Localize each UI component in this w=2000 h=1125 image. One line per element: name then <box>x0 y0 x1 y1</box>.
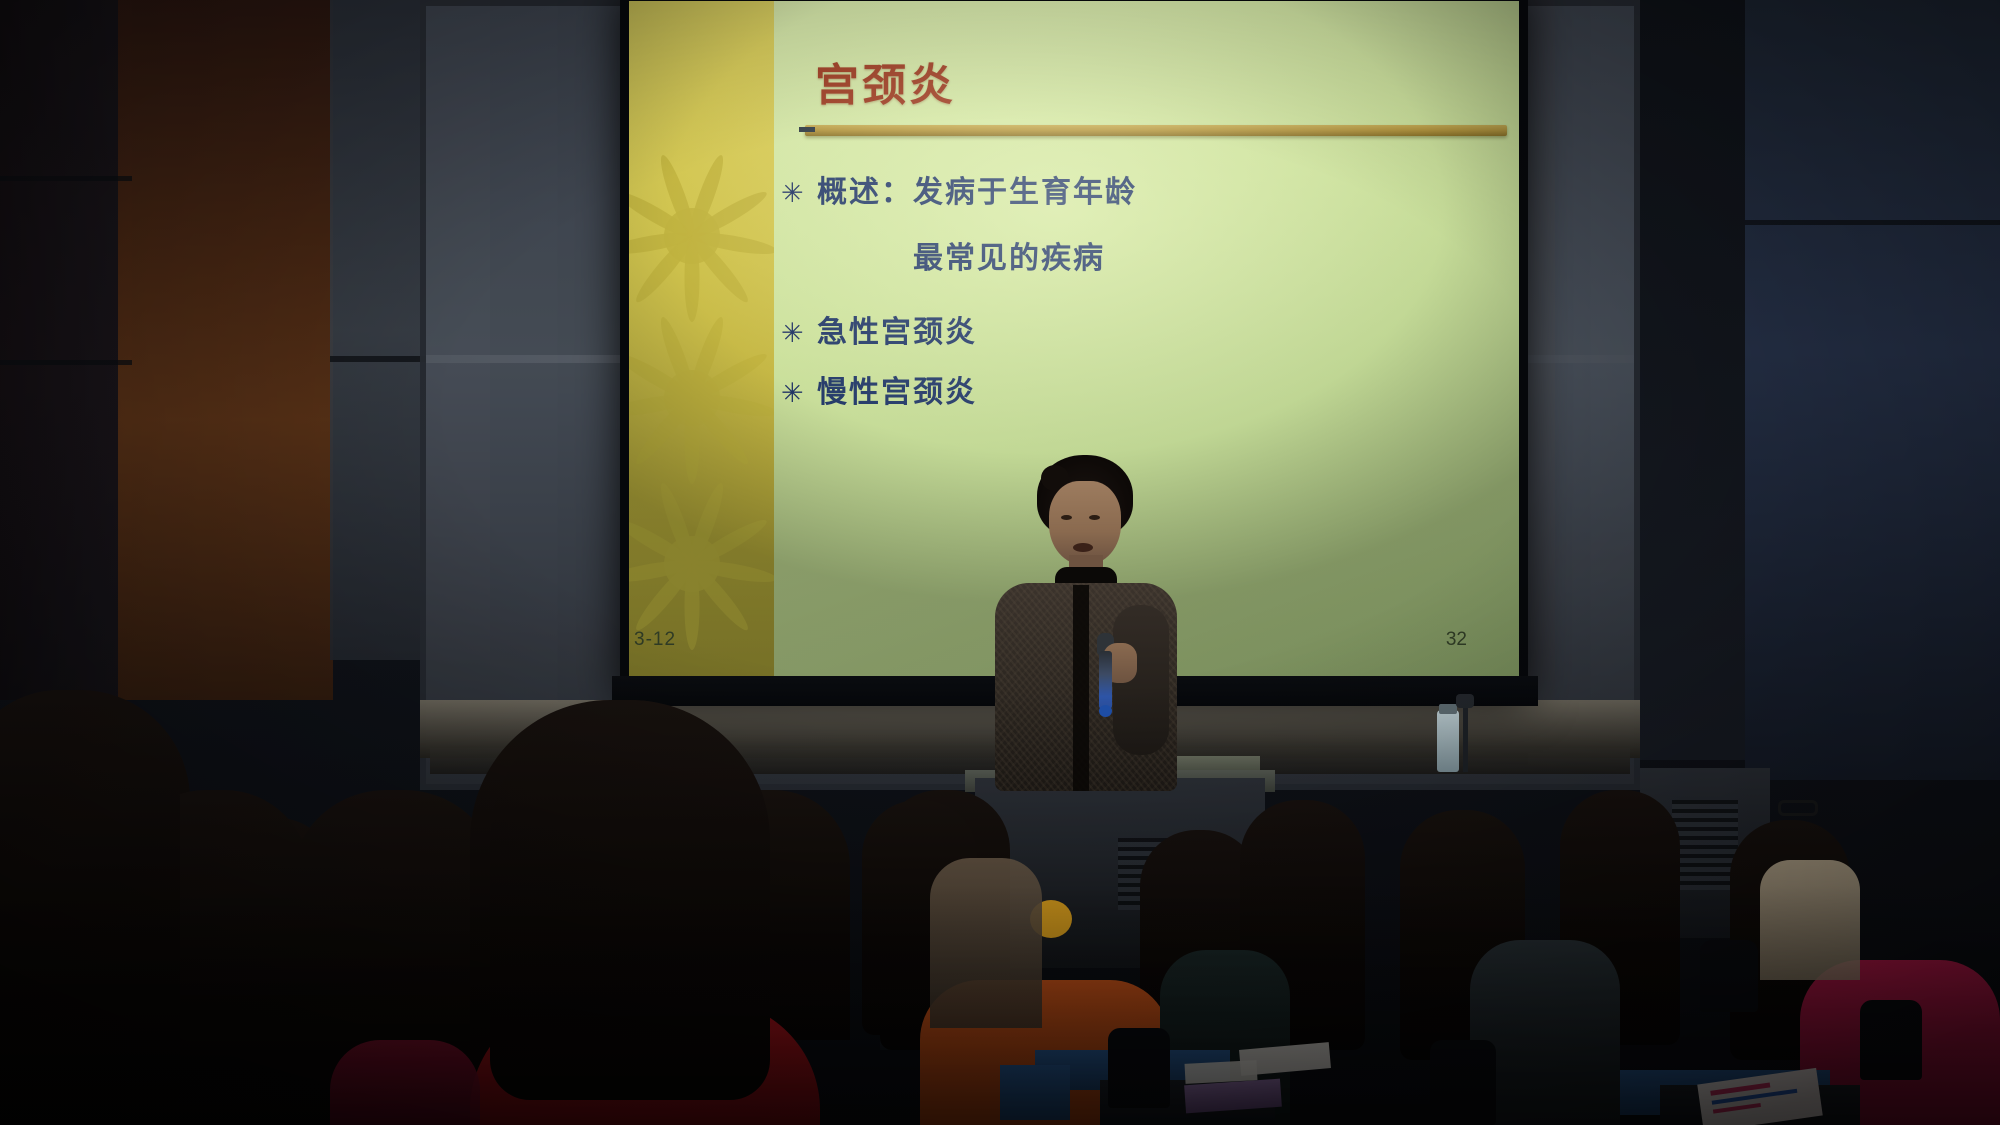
student-plaid-scarf <box>930 858 1042 1028</box>
slide-bullet-1: ✳ 概述：发病于生育年龄 <box>781 167 1501 211</box>
presenter <box>985 455 1185 785</box>
wall-seam <box>0 360 132 365</box>
slide-bullet-1-continuation-text: 最常见的疾病 <box>913 233 1105 277</box>
microphone-tip <box>1099 705 1112 717</box>
presenter-eye-right <box>1089 515 1100 520</box>
wall-seam <box>1745 220 2000 225</box>
microphone-handheld <box>1099 651 1112 709</box>
microphone-stand <box>1463 700 1468 772</box>
slide-bullet-2-text: 急性宫颈炎 <box>817 307 977 351</box>
bullet-star-icon: ✳ <box>781 380 817 407</box>
student-cream-top <box>1760 860 1860 980</box>
presenter-eye-left <box>1061 515 1072 520</box>
bullet-star-icon: ✳ <box>781 320 817 347</box>
sunburst-icon <box>629 151 774 321</box>
student-pink-top <box>330 1040 480 1125</box>
slide-title-rule-cap <box>799 127 815 132</box>
presenter-face <box>1049 481 1121 565</box>
slide-title-rule <box>805 125 1507 136</box>
slide-title: 宫颈炎 <box>815 49 956 113</box>
bullet-star-icon: ✳ <box>781 180 817 207</box>
water-bottle-cap <box>1439 704 1457 714</box>
slide-bullet-2: ✳ 急性宫颈炎 <box>781 307 1501 351</box>
sunburst-icon <box>629 479 774 649</box>
audience-hair-foreground <box>0 690 180 1110</box>
wall-blue-right <box>1745 0 2000 780</box>
water-bottle <box>1437 710 1459 772</box>
chair <box>1430 1040 1496 1125</box>
slide-bullet-1-text: 概述：发病于生育年龄 <box>817 167 1137 211</box>
presenter-mouth <box>1073 543 1093 552</box>
audience-hair-foreground <box>490 700 770 1100</box>
slide-bullet-3-text: 慢性宫颈炎 <box>817 367 977 411</box>
presenter-jacket-placket <box>1073 585 1089 791</box>
wall-left-panel <box>0 0 132 700</box>
microphone-stand-head <box>1456 694 1474 708</box>
wall-seam <box>0 176 132 181</box>
slide-bullet-list: ✳ 概述：发病于生育年龄 最常见的疾病 ✳ 急性宫颈炎 ✳ 慢性宫颈炎 <box>781 161 1501 411</box>
lecture-hall-scene: 宫颈炎 ✳ 概述：发病于生育年龄 最常见的疾病 ✳ 急性宫颈炎 ✳ 慢性宫颈 <box>0 0 2000 1125</box>
eyeglasses-icon <box>1778 800 1818 816</box>
chair <box>1700 940 1758 1012</box>
slide-page-number: 32 <box>1446 629 1467 651</box>
chair <box>1108 1028 1170 1108</box>
equipment-cabinet-vent <box>1672 800 1738 890</box>
slide-bullet-3: ✳ 慢性宫颈炎 <box>781 367 1501 411</box>
slide-bullet-1-continuation: 最常见的疾病 <box>913 233 1501 277</box>
slide-sidebar-decor <box>629 1 774 687</box>
chair <box>1860 1000 1922 1080</box>
wood-panel-left <box>118 0 333 700</box>
sunburst-icon <box>629 313 774 483</box>
desk-surface <box>1000 1065 1070 1120</box>
slide-footer-left: 3-12 <box>634 629 676 651</box>
